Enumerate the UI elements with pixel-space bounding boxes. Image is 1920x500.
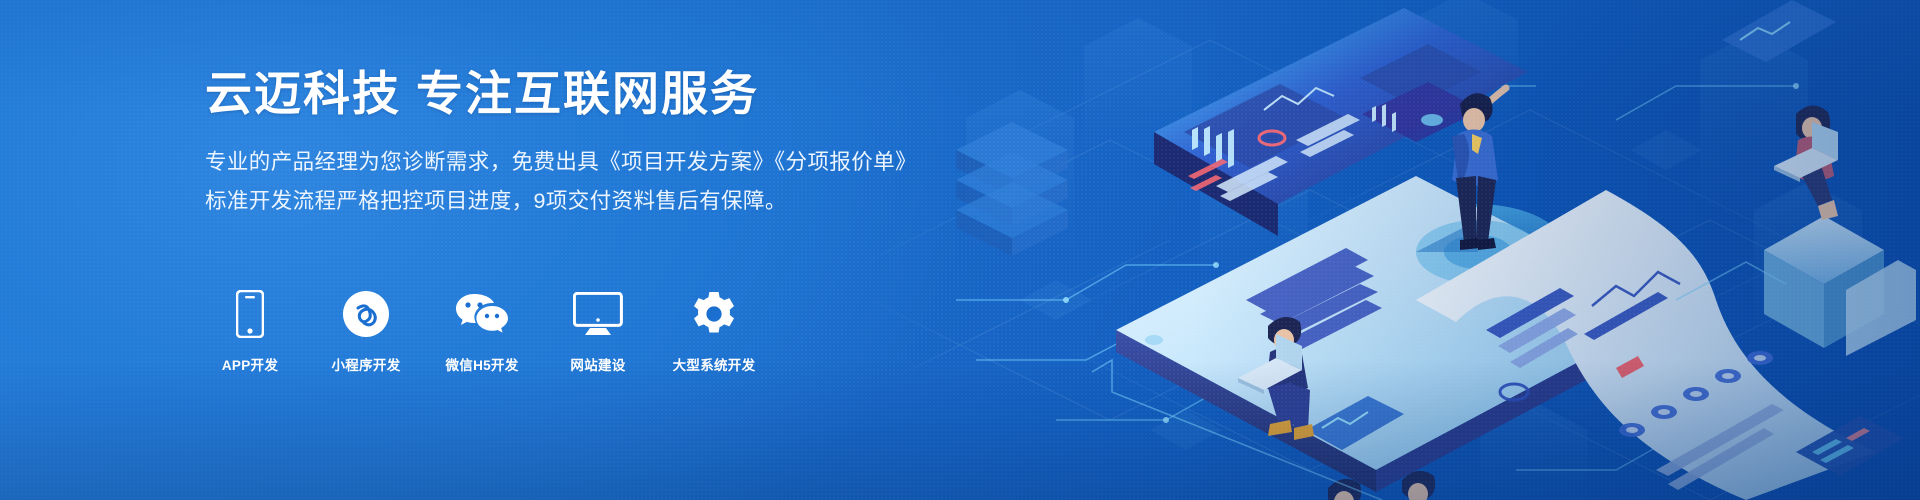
service-item-app[interactable]: APP开发	[205, 288, 295, 374]
service-item-miniprogram[interactable]: 小程序开发	[321, 288, 411, 374]
service-label: 大型系统开发	[673, 354, 756, 374]
hero-copy: 云迈科技 专注互联网服务 专业的产品经理为您诊断需求，免费出具《项目开发方案》《…	[205, 66, 925, 220]
service-list: APP开发 小程序开发 微信	[205, 288, 759, 374]
mini-program-icon	[343, 288, 389, 340]
mobile-phone-icon	[236, 288, 264, 340]
service-label: APP开发	[222, 354, 278, 374]
subtitle-line-2: 标准开发流程严格把控项目进度，9项交付资料售后有保障。	[205, 182, 925, 220]
monitor-icon	[573, 288, 623, 340]
wechat-icon	[455, 288, 509, 340]
service-label: 小程序开发	[332, 354, 401, 374]
service-label: 微信H5开发	[445, 354, 518, 374]
hero-banner: 云迈科技 专注互联网服务 专业的产品经理为您诊断需求，免费出具《项目开发方案》《…	[0, 0, 1920, 500]
service-item-large-system[interactable]: 大型系统开发	[669, 288, 759, 374]
page-title: 云迈科技 专注互联网服务	[205, 66, 925, 121]
service-item-wechat-h5[interactable]: 微信H5开发	[437, 288, 527, 374]
subtitle-line-1: 专业的产品经理为您诊断需求，免费出具《项目开发方案》《分项报价单》	[205, 143, 925, 181]
service-item-website[interactable]: 网站建设	[553, 288, 643, 374]
gear-icon	[690, 288, 738, 340]
service-label: 网站建设	[570, 354, 625, 374]
